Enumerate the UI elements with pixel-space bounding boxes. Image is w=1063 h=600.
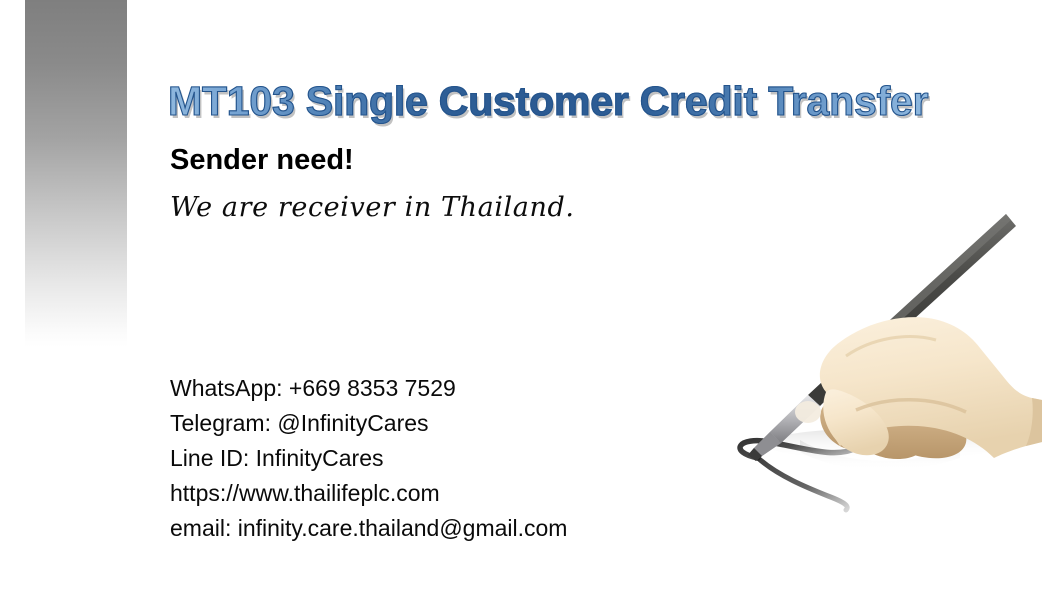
subline-text: We are receiver in Thailand.: [170, 192, 575, 223]
page-title-text: MT103 Single Customer Credit Transfer: [168, 78, 928, 125]
list-item: https://www.thailifeplc.com: [170, 476, 567, 511]
list-item: Line ID: InfinityCares: [170, 441, 567, 476]
left-gradient-bar: [25, 0, 127, 347]
list-item: Telegram: @InfinityCares: [170, 406, 567, 441]
headline-text: Sender need!: [170, 144, 354, 177]
ink-squiggle-tail-shape: [758, 458, 847, 510]
list-item: WhatsApp: +669 8353 7529: [170, 371, 567, 406]
hand-writing-with-pen-icon: [650, 196, 1050, 536]
slide-canvas: MT103 Single Customer Credit Transfer MT…: [0, 0, 1063, 600]
list-item: email: infinity.care.thailand@gmail.com: [170, 511, 567, 546]
contact-list: WhatsApp: +669 8353 7529 Telegram: @Infi…: [170, 371, 567, 546]
page-title: MT103 Single Customer Credit Transfer MT…: [168, 78, 1028, 134]
